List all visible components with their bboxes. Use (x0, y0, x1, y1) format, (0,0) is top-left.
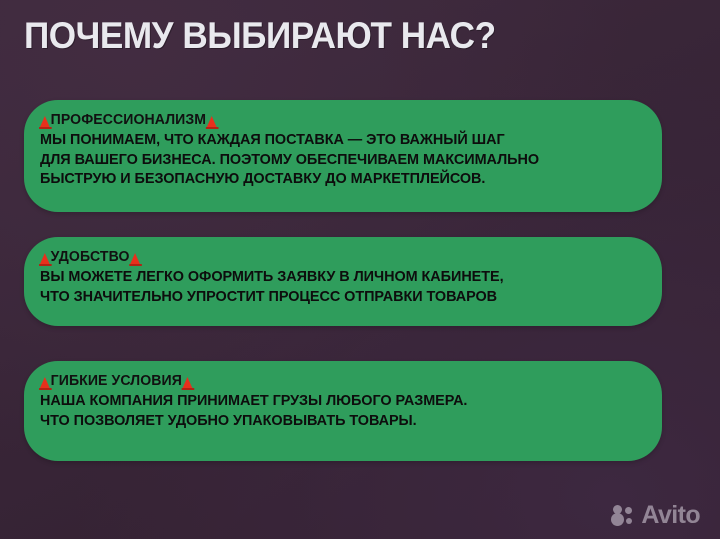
red-cone-icon (40, 116, 50, 127)
red-cone-icon (183, 377, 193, 388)
benefit-card: ГИБКИЕ УСЛОВИЯ НАША КОМПАНИЯ ПРИНИМАЕТ Г… (24, 361, 662, 461)
avito-watermark: Avito (611, 503, 700, 528)
benefit-card: ПРОФЕССИОНАЛИЗМ МЫ ПОНИМАЕМ, ЧТО КАЖДАЯ … (24, 100, 662, 212)
benefit-card-body: МЫ ПОНИМАЕМ, ЧТО КАЖДАЯ ПОСТАВКА — ЭТО В… (40, 131, 631, 190)
benefit-card-heading-text: ГИБКИЕ УСЛОВИЯ (51, 373, 182, 390)
avito-wordmark: Avito (641, 503, 700, 528)
red-cone-icon (207, 116, 217, 127)
benefit-card: УДОБСТВО ВЫ МОЖЕТЕ ЛЕГКО ОФОРМИТЬ ЗАЯВКУ… (24, 237, 662, 326)
poster-canvas: ПОЧЕМУ ВЫБИРАЮТ НАС? ПРОФЕССИОНАЛИЗМ МЫ … (0, 0, 720, 539)
benefit-card-body: НАША КОМПАНИЯ ПРИНИМАЕТ ГРУЗЫ ЛЮБОГО РАЗ… (40, 392, 631, 431)
avito-dots-logo-icon (611, 505, 637, 527)
benefit-card-heading: ПРОФЕССИОНАЛИЗМ (40, 112, 628, 129)
benefit-card-body: ВЫ МОЖЕТЕ ЛЕГКО ОФОРМИТЬ ЗАЯВКУ В ЛИЧНОМ… (40, 268, 631, 307)
red-cone-icon (40, 377, 50, 388)
benefit-card-heading-text: ПРОФЕССИОНАЛИЗМ (51, 112, 206, 129)
benefit-card-heading-text: УДОБСТВО (51, 249, 130, 266)
benefit-card-heading: ГИБКИЕ УСЛОВИЯ (40, 373, 628, 390)
red-cone-icon (130, 253, 140, 264)
benefit-card-heading: УДОБСТВО (40, 249, 628, 266)
page-title: ПОЧЕМУ ВЫБИРАЮТ НАС? (24, 16, 662, 56)
red-cone-icon (40, 253, 50, 264)
